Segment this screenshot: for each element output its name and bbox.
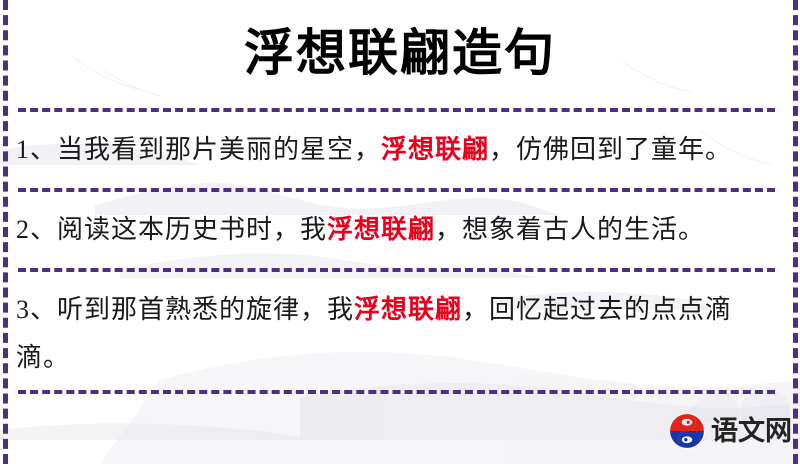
keyword-highlight-2: 浮想联翩 (327, 215, 435, 244)
yuwen-logo-icon (668, 412, 706, 450)
page-title: 浮想联翩造句 (0, 24, 800, 82)
sentence-text-before-1: 当我看到那片美丽的星空， (57, 135, 381, 164)
keyword-highlight-3: 浮想联翩 (354, 295, 462, 324)
sentence-text-before-2: 阅读这本历史书时，我 (57, 215, 327, 244)
worksheet-page: 浮想联翩造句 1、当我看到那片美丽的星空，浮想联翩，仿佛回到了童年。 2、阅读这… (0, 0, 800, 464)
separator-line-4 (18, 390, 775, 394)
sentence-text-after-2: ，想象着古人的生活。 (435, 215, 705, 244)
frame-left-border (3, 0, 8, 464)
sentence-text-before-3: 听到那首熟悉的旋律，我 (57, 295, 354, 324)
sentence-number-3: 3、 (16, 295, 57, 324)
separator-line-2 (18, 188, 775, 192)
frame-right-border (793, 0, 798, 464)
sentence-number-1: 1、 (16, 135, 57, 164)
logo-text: 语文网 (711, 416, 792, 446)
sentence-number-2: 2、 (16, 215, 57, 244)
example-sentence-1: 1、当我看到那片美丽的星空，浮想联翩，仿佛回到了童年。 (16, 126, 780, 174)
example-sentence-2: 2、阅读这本历史书时，我浮想联翩，想象着古人的生活。 (16, 206, 780, 254)
separator-line-1 (18, 108, 775, 112)
example-sentence-3: 3、听到那首熟悉的旋律，我浮想联翩，回忆起过去的点点滴滴。 (16, 286, 780, 382)
separator-line-3 (18, 268, 775, 272)
site-logo[interactable]: 语文网 (668, 412, 792, 450)
keyword-highlight-1: 浮想联翩 (381, 135, 489, 164)
sentence-text-after-1: ，仿佛回到了童年。 (489, 135, 732, 164)
